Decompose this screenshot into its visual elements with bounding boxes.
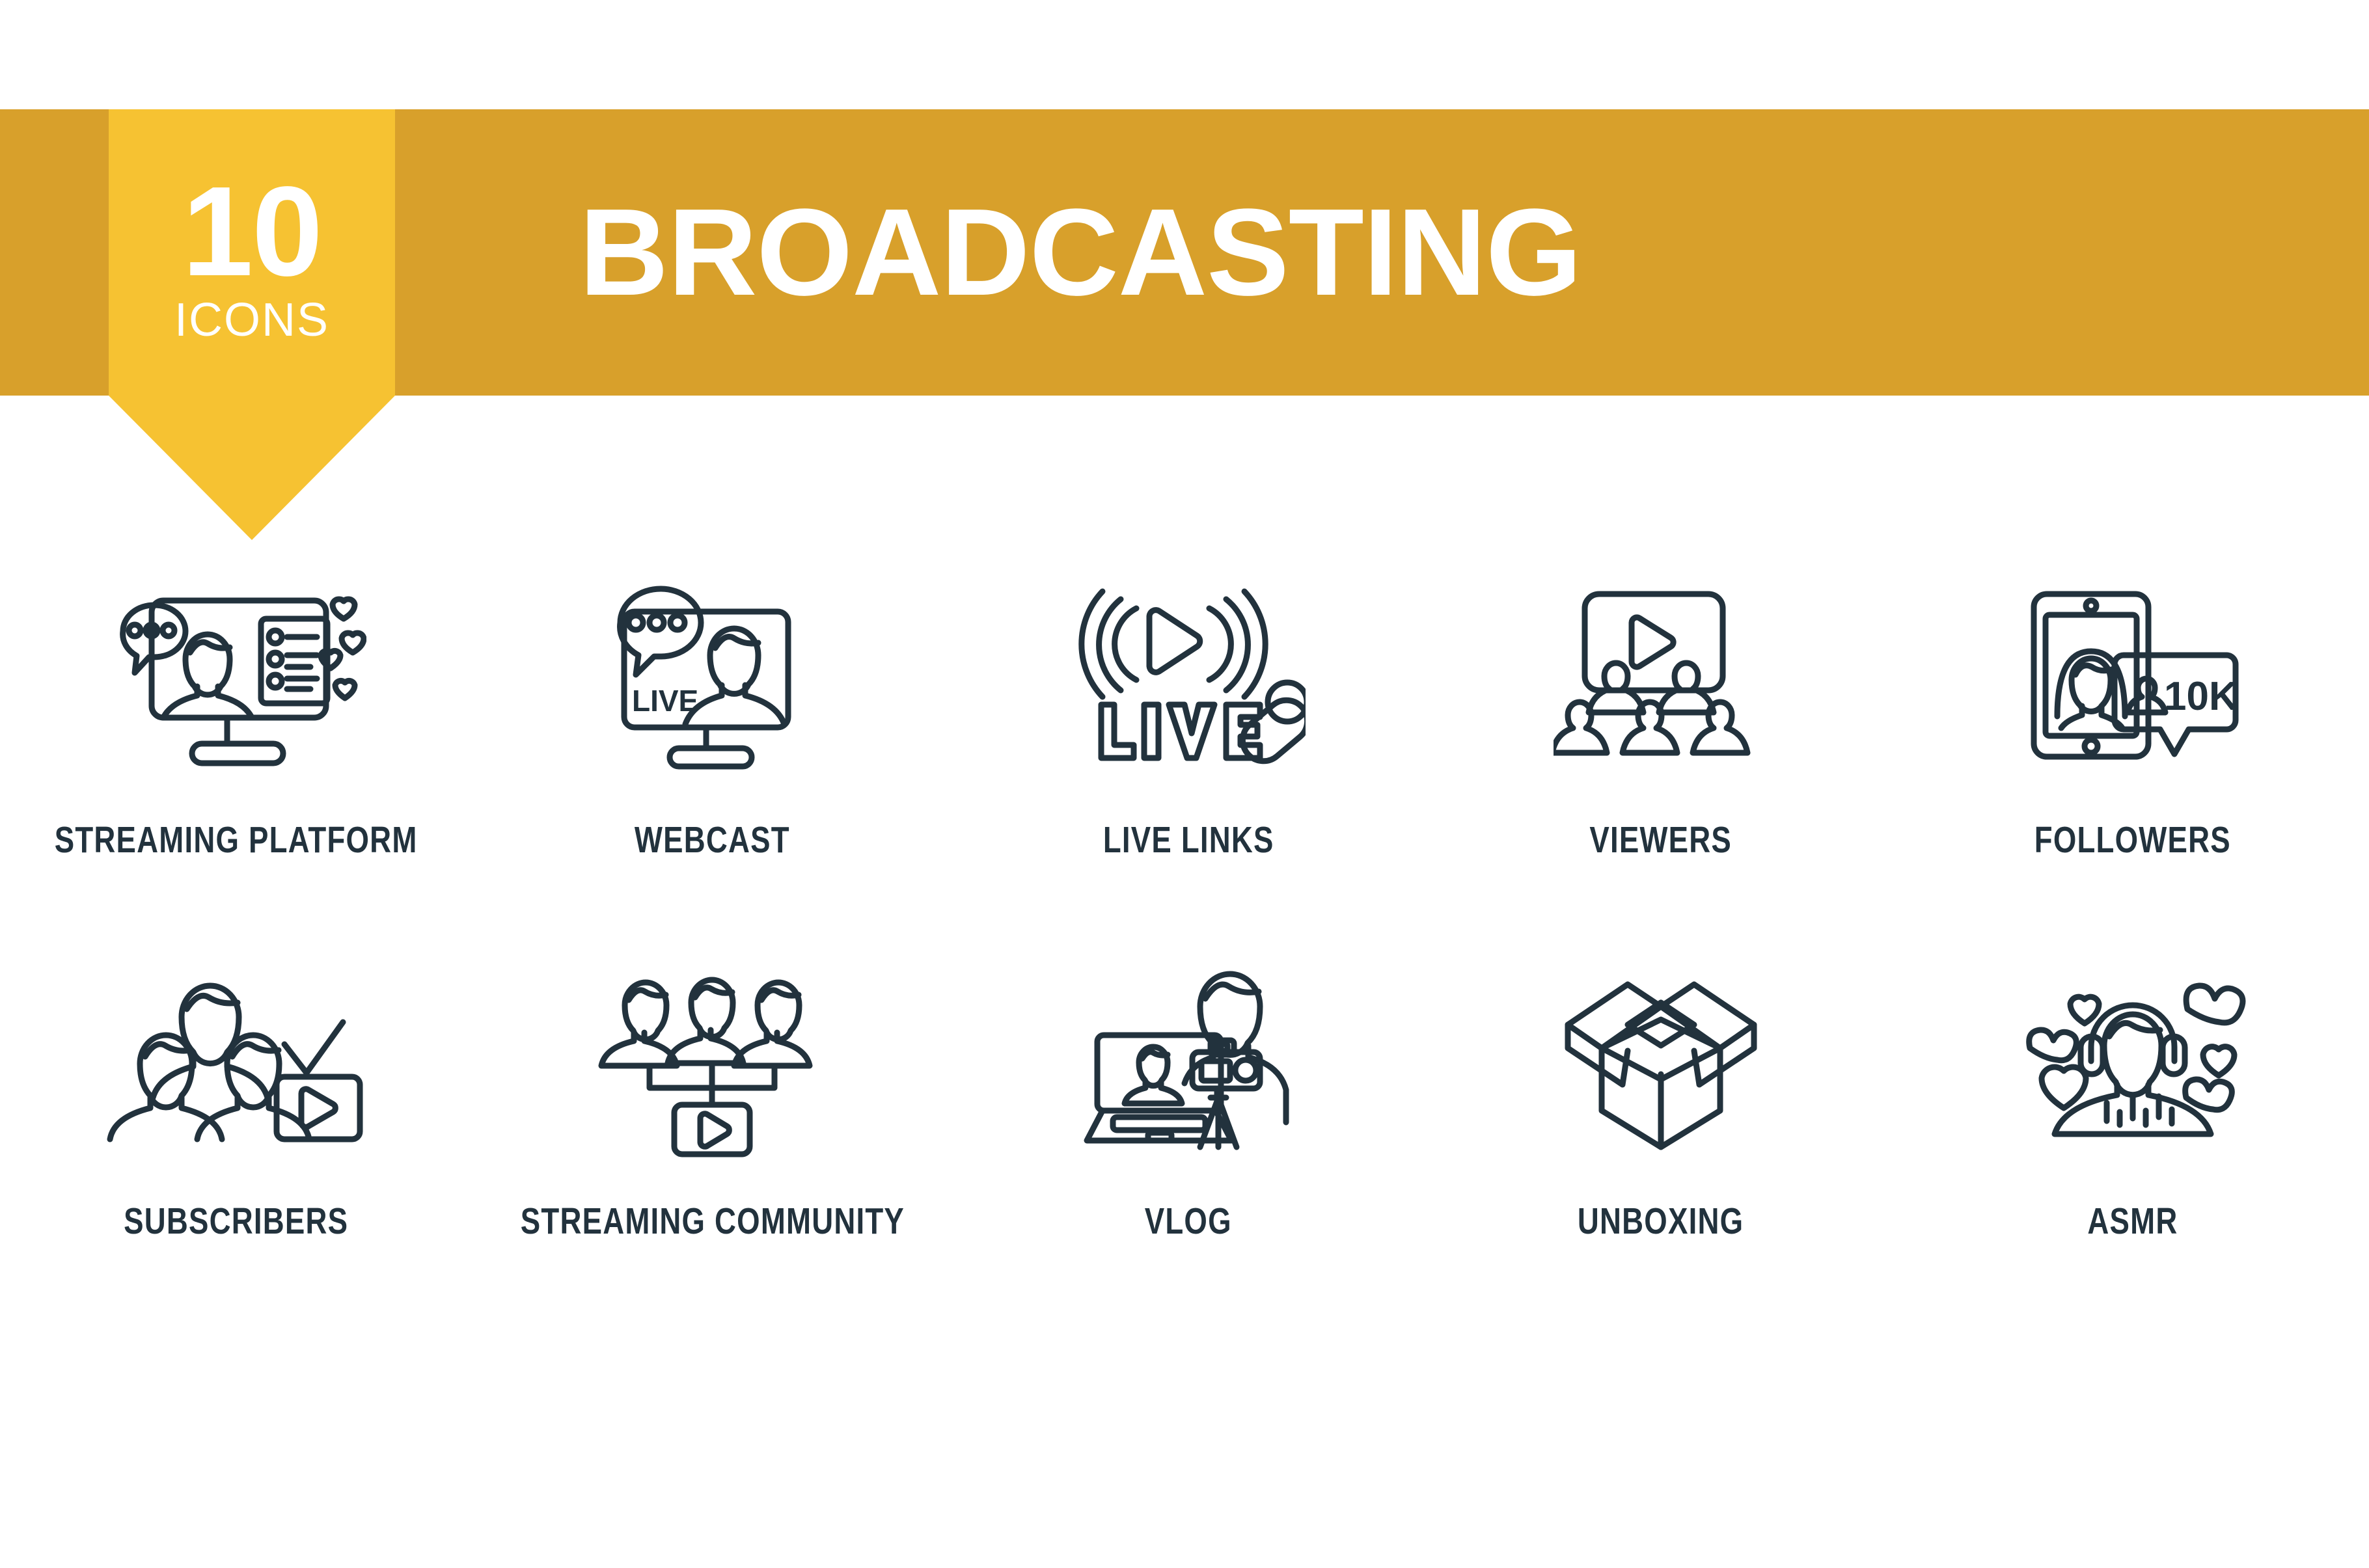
icon-label: ASMR bbox=[2088, 1200, 2178, 1243]
icon-count-word: ICONS bbox=[174, 297, 329, 344]
icon-cell-asmr[interactable]: ASMR bbox=[1897, 954, 2369, 1243]
icon-cell-live-links[interactable]: LIVE LINKS bbox=[952, 573, 1425, 861]
icon-label: VLOG bbox=[1145, 1200, 1232, 1243]
streaming-platform-icon bbox=[100, 573, 373, 787]
icon-label: SUBSCRIBERS bbox=[124, 1200, 348, 1243]
page-title: BROADCASTING bbox=[579, 109, 1582, 396]
webcast-icon: LIVE bbox=[575, 573, 849, 787]
icon-count-ribbon: 10 ICONS bbox=[109, 109, 395, 540]
icon-cell-webcast[interactable]: LIVE WEBCAST bbox=[472, 573, 953, 861]
icon-label: STREAMING PLATFORM bbox=[55, 818, 418, 861]
icon-label: STREAMING COMMUNITY bbox=[520, 1200, 904, 1243]
icon-cell-viewers[interactable]: VIEWERS bbox=[1425, 573, 1897, 861]
icon-label: UNBOXING bbox=[1578, 1200, 1744, 1243]
icon-cell-streaming-platform[interactable]: STREAMING PLATFORM bbox=[0, 573, 472, 861]
icon-grid: STREAMING PLATFORM LIVE WEBCAST bbox=[0, 573, 2369, 1243]
icon-label: VIEWERS bbox=[1589, 818, 1732, 861]
vlog-icon bbox=[1052, 954, 1325, 1169]
asmr-icon bbox=[1996, 954, 2269, 1169]
live-links-icon bbox=[1052, 573, 1325, 787]
icon-cell-unboxing[interactable]: UNBOXING bbox=[1425, 954, 1897, 1243]
icon-label: WEBCAST bbox=[635, 818, 790, 861]
webcast-live-badge: LIVE bbox=[632, 684, 698, 718]
unboxing-icon bbox=[1524, 954, 1798, 1169]
icon-cell-subscribers[interactable]: SUBSCRIBERS bbox=[0, 954, 472, 1243]
followers-icon: 10K bbox=[1996, 573, 2269, 787]
icon-cell-vlog[interactable]: VLOG bbox=[952, 954, 1425, 1243]
subscribers-icon bbox=[100, 954, 373, 1169]
ribbon-point bbox=[109, 396, 395, 540]
icon-cell-followers[interactable]: 10K FOLLOWERS bbox=[1897, 573, 2369, 861]
icon-cell-streaming-community[interactable]: STREAMING COMMUNITY bbox=[472, 954, 953, 1243]
icon-label: FOLLOWERS bbox=[2034, 818, 2231, 861]
viewers-icon bbox=[1524, 573, 1798, 787]
ribbon-body: 10 ICONS bbox=[109, 109, 395, 396]
icon-count-number: 10 bbox=[182, 176, 322, 288]
streaming-community-icon bbox=[575, 954, 849, 1169]
icon-label: LIVE LINKS bbox=[1103, 818, 1274, 861]
followers-count-badge: 10K bbox=[2164, 674, 2238, 719]
